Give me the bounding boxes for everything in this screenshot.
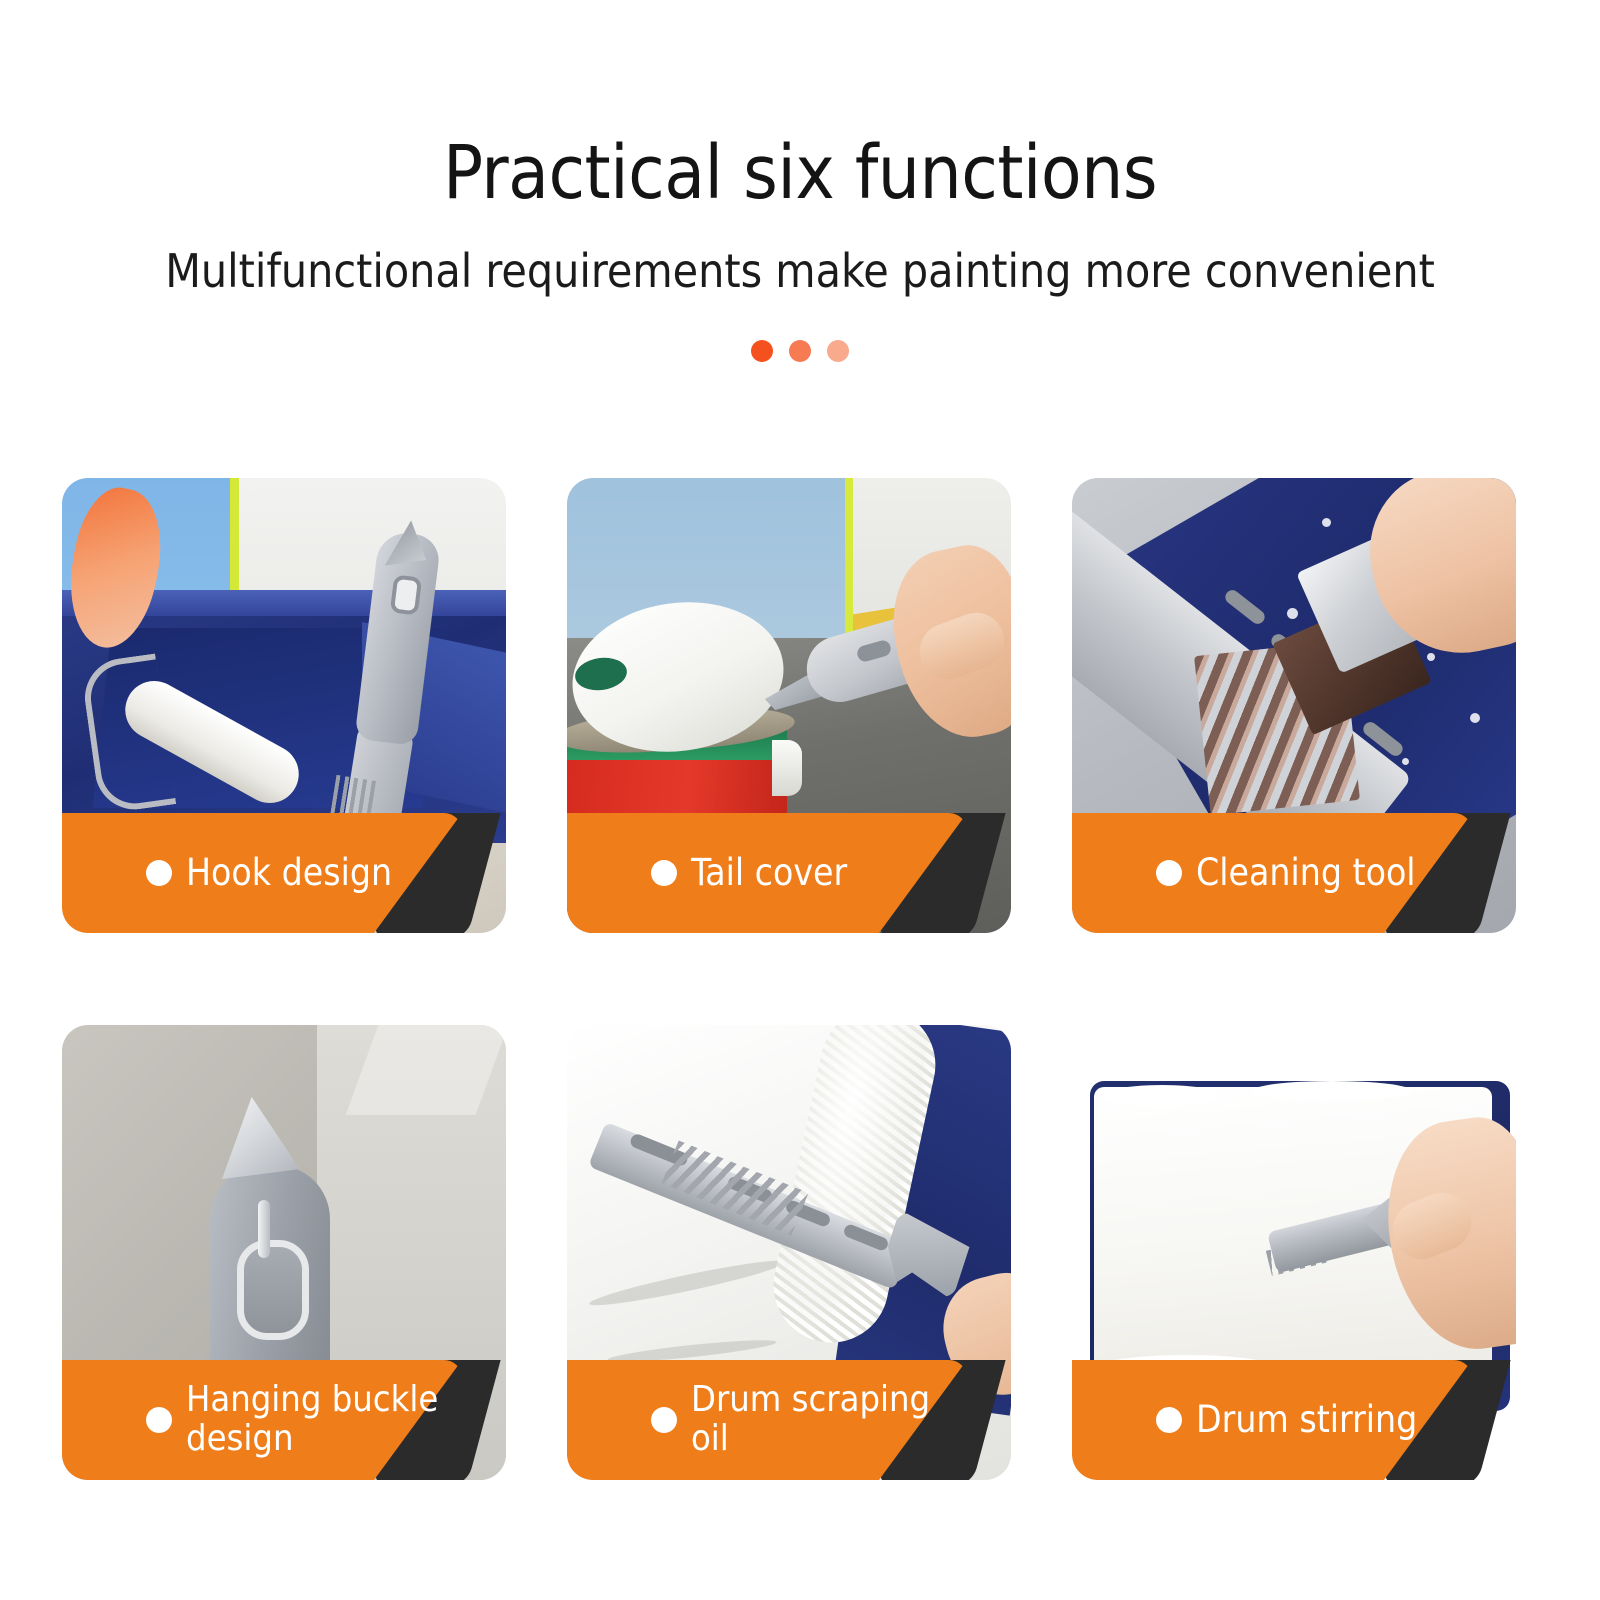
page-subtitle: Multifunctional requirements make painti… <box>0 210 1600 294</box>
card-label: Drum scraping oil <box>655 1381 930 1459</box>
paint-speck <box>1287 608 1298 619</box>
banner-content: Drum scraping oil <box>567 1360 967 1480</box>
green-tape-line <box>845 478 853 638</box>
paint-speck <box>1322 518 1331 527</box>
dot-second <box>789 340 811 362</box>
bullet-icon <box>146 1407 172 1433</box>
card-banner: Hanging buckle design <box>62 1360 506 1480</box>
bullet-icon <box>651 860 677 886</box>
header: Practical six functions Multifunctional … <box>0 0 1600 362</box>
card-banner: Drum scraping oil <box>567 1360 1011 1480</box>
can-side-knob <box>772 740 802 796</box>
banner-content: Tail cover <box>567 813 967 933</box>
card-label: Hanging buckle design <box>150 1381 438 1459</box>
bullet-icon <box>1156 1407 1182 1433</box>
banner-content: Hanging buckle design <box>62 1360 462 1480</box>
feature-card-hanging-buckle-design[interactable]: Hanging buckle design <box>62 1025 506 1480</box>
hanging-buckle-hole <box>237 1240 309 1340</box>
dot-third <box>827 340 849 362</box>
infographic-page: Practical six functions Multifunctional … <box>0 0 1600 1600</box>
bullet-icon <box>1156 860 1182 886</box>
card-banner: Drum stirring <box>1072 1360 1516 1480</box>
paint-splatter <box>1252 1081 1412 1101</box>
banner-content: Cleaning tool <box>1072 813 1472 933</box>
feature-card-grid: Hook design <box>62 478 1517 1480</box>
bullet-icon <box>146 860 172 886</box>
paint-speck <box>1427 653 1435 661</box>
wall-hook <box>258 1200 270 1258</box>
feature-card-drum-stirring[interactable]: Drum stirring <box>1072 1025 1516 1480</box>
card-label: Cleaning tool <box>1160 853 1416 893</box>
bullet-icon <box>651 1407 677 1433</box>
paint-splatter <box>1102 1085 1222 1107</box>
tool-buckle-hole <box>390 574 422 615</box>
feature-card-tail-cover[interactable]: Tail cover <box>567 478 1011 933</box>
banner-content: Hook design <box>62 813 462 933</box>
card-banner: Hook design <box>62 813 506 933</box>
banner-content: Drum stirring <box>1072 1360 1472 1480</box>
card-banner: Cleaning tool <box>1072 813 1516 933</box>
feature-card-hook-design[interactable]: Hook design <box>62 478 506 933</box>
paint-speck <box>1402 758 1409 765</box>
dots-indicator <box>0 294 1600 362</box>
card-banner: Tail cover <box>567 813 1011 933</box>
page-title: Practical six functions <box>0 0 1600 210</box>
card-label: Drum stirring <box>1160 1400 1417 1440</box>
paint-speck <box>1470 713 1480 723</box>
feature-card-cleaning-tool[interactable]: Cleaning tool <box>1072 478 1516 933</box>
card-label: Tail cover <box>655 853 847 893</box>
dot-active <box>751 340 773 362</box>
feature-card-drum-scraping-oil[interactable]: Drum scraping oil <box>567 1025 1011 1480</box>
card-label: Hook design <box>150 853 392 893</box>
